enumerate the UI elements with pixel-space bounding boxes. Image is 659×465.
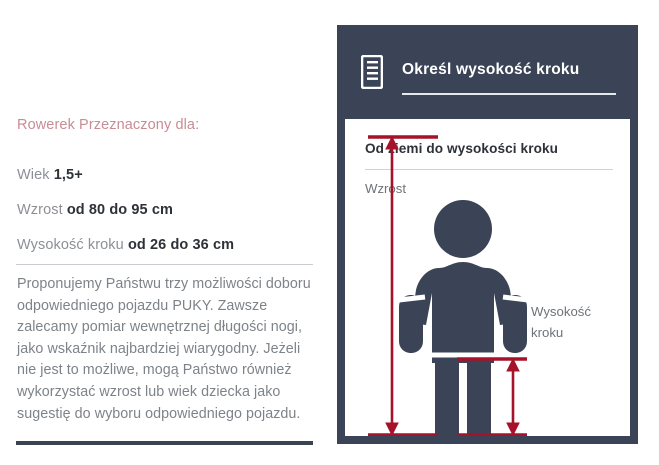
spec-row-step-height: Wysokość kroku od 26 do 36 cm xyxy=(17,237,234,253)
spec-label-age: Wiek xyxy=(17,167,54,183)
panel-title-underline xyxy=(402,93,616,95)
step-height-panel: Określ wysokość kroku Od ziemi do wysoko… xyxy=(337,25,638,444)
spec-label-height: Wzrost xyxy=(17,202,67,218)
divider-top xyxy=(16,264,313,265)
spec-value-step-height: od 26 do 36 cm xyxy=(128,237,234,253)
spec-label-step-height: Wysokość kroku xyxy=(17,237,128,253)
advice-paragraph: Proponujemy Państwu trzy możliwości dobo… xyxy=(17,274,323,425)
divider-bottom xyxy=(16,441,313,445)
child-figure-diagram xyxy=(345,119,630,436)
spec-heading: Rowerek Przeznaczony dla: xyxy=(17,117,199,133)
spec-value-age: 1,5+ xyxy=(54,167,83,183)
panel-header: Określ wysokość kroku xyxy=(337,25,638,119)
spec-row-age: Wiek 1,5+ xyxy=(17,167,83,183)
spec-value-height: od 80 do 95 cm xyxy=(67,202,173,218)
spec-row-height: Wzrost od 80 do 95 cm xyxy=(17,202,173,218)
product-spec-column: Rowerek Przeznaczony dla: Wiek 1,5+ Wzro… xyxy=(0,0,330,465)
ruler-icon xyxy=(361,55,383,89)
panel-title: Określ wysokość kroku xyxy=(402,61,579,79)
child-silhouette xyxy=(399,200,527,436)
measurement-card: Od ziemi do wysokości kroku Wzrost Wysok… xyxy=(345,119,630,436)
